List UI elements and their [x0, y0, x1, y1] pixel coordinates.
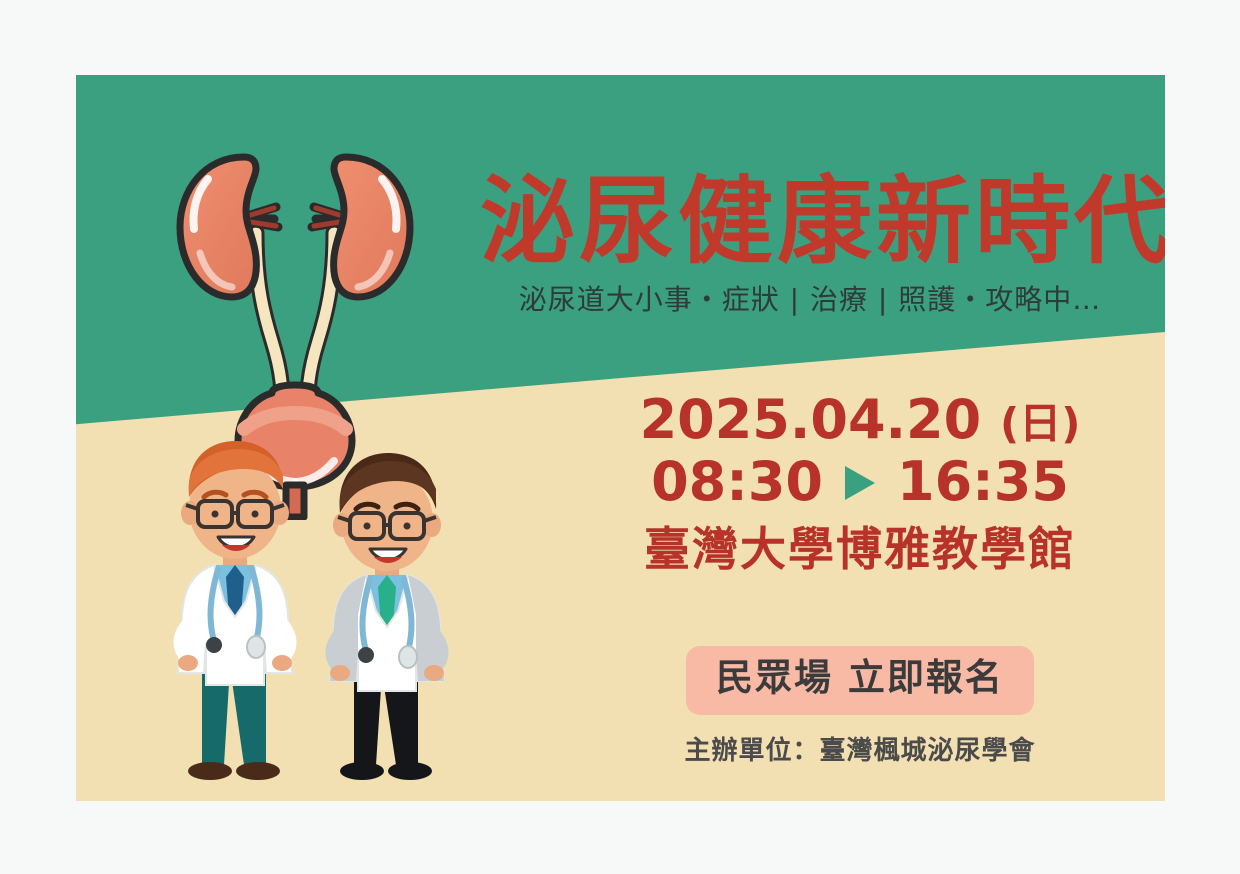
- event-time-start: 08:30: [651, 450, 823, 515]
- event-poster-card: 泌尿健康新時代 泌尿道大小事・症狀 | 治療 | 照護・攻略中… 2025.04…: [76, 75, 1165, 801]
- event-time-end: 16:35: [897, 450, 1069, 515]
- event-date: 2025.04.20: [640, 388, 982, 451]
- page-subtitle: 泌尿道大小事・症狀 | 治療 | 照護・攻略中…: [480, 283, 1140, 317]
- two-doctors-illustration: [126, 405, 486, 801]
- register-button[interactable]: 民眾場 立即報名: [686, 646, 1034, 715]
- headline-block: 泌尿健康新時代 泌尿道大小事・症狀 | 治療 | 照護・攻略中…: [480, 172, 1140, 316]
- play-triangle-icon: [845, 466, 875, 500]
- cta-wrapper: 民眾場 立即報名: [600, 646, 1120, 715]
- event-day-of-week: (日): [1000, 399, 1080, 448]
- page-title: 泌尿健康新時代: [480, 172, 1140, 273]
- event-venue: 臺灣大學博雅教學館: [600, 523, 1120, 576]
- poster-stage: 泌尿健康新時代 泌尿道大小事・症狀 | 治療 | 照護・攻略中… 2025.04…: [0, 0, 1240, 874]
- organizer-line: 主辦單位：臺灣楓城泌尿學會: [600, 730, 1120, 767]
- event-info-block: 2025.04.20 (日) 08:30 16:35 臺灣大學博雅教學館: [600, 390, 1120, 576]
- event-time-line: 08:30 16:35: [600, 450, 1120, 515]
- event-date-line: 2025.04.20 (日): [600, 390, 1120, 450]
